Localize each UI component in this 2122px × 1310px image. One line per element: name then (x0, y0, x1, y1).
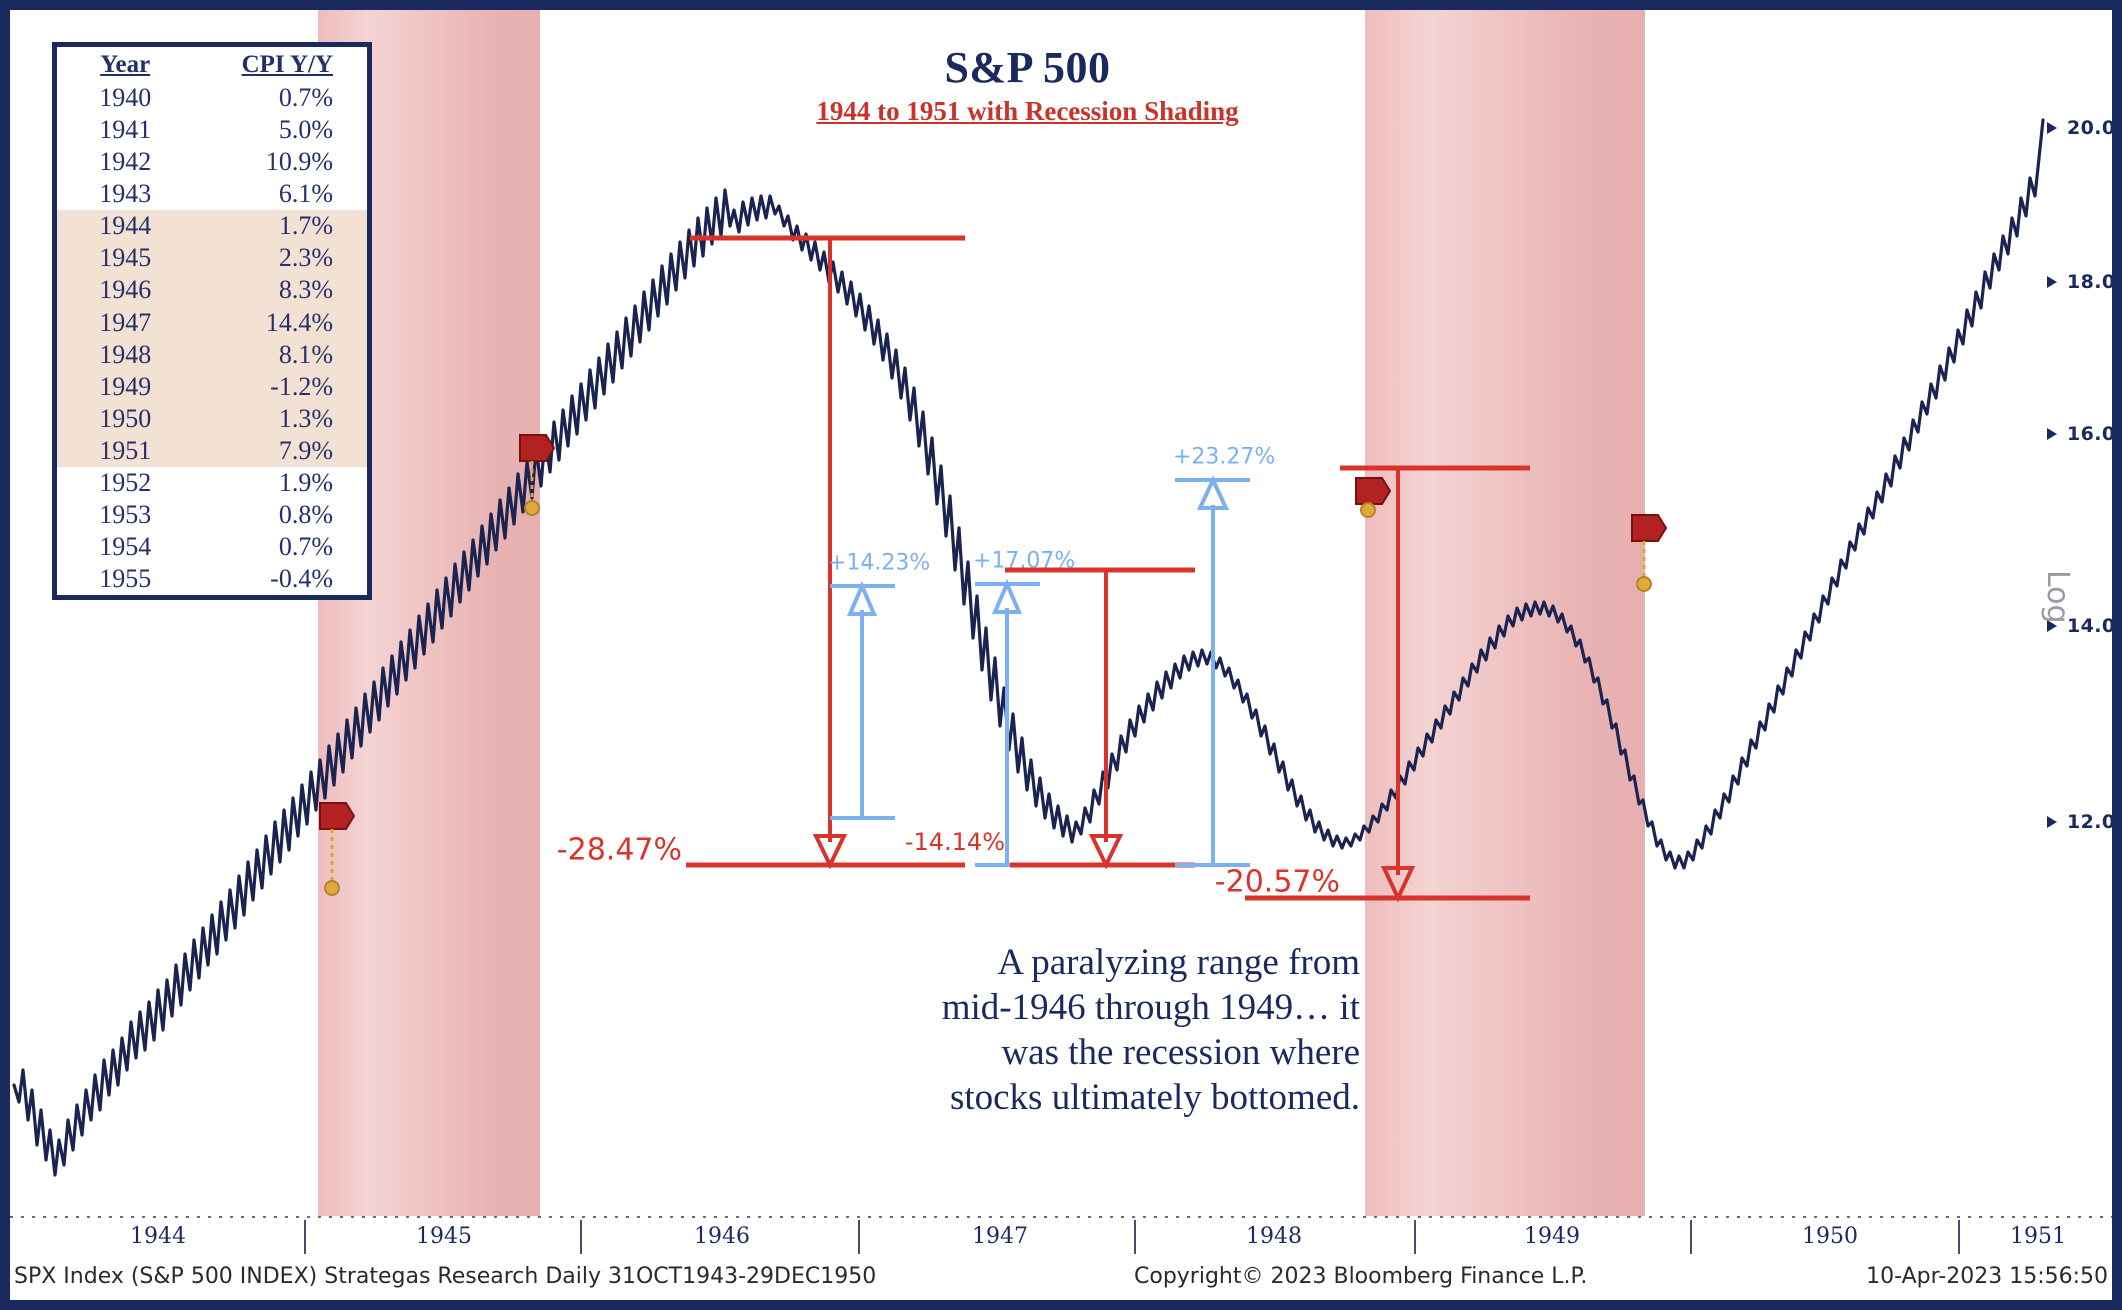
cpi-cell-year: 1943 (57, 178, 193, 210)
y-tick-mark-18 (2047, 276, 2057, 288)
cpi-table-body: 19400.7%19415.0%194210.9%19436.1%19441.7… (57, 82, 367, 595)
x-tick-sep-1 (304, 1220, 306, 1254)
x-tick-label-1945: 1945 (416, 1224, 472, 1249)
x-tick-sep-7 (1958, 1220, 1960, 1254)
cpi-cell-year: 1955 (57, 563, 193, 595)
cpi-cell-value: 1.3% (193, 403, 367, 435)
cpi-table-row: 19436.1% (57, 178, 367, 210)
cpi-cell-value: 14.4% (193, 307, 367, 339)
cpi-table-row: 19517.9% (57, 435, 367, 467)
footer-source-text: SPX Index (S&P 500 INDEX) Strategas Rese… (14, 1264, 876, 1289)
cpi-table: Year CPI Y/Y 19400.7%19415.0%194210.9%19… (52, 42, 372, 600)
cpi-cell-year: 1953 (57, 499, 193, 531)
x-tick-sep-5 (1414, 1220, 1416, 1254)
x-tick-label-1944: 1944 (130, 1224, 186, 1249)
window-frame-right (2112, 0, 2122, 1310)
cpi-cell-year: 1945 (57, 242, 193, 274)
cpi-cell-value: 8.1% (193, 339, 367, 371)
cpi-cell-year: 1941 (57, 114, 193, 146)
cpi-table-row: 19521.9% (57, 467, 367, 499)
cpi-cell-value: 0.7% (193, 531, 367, 563)
x-tick-sep-3 (858, 1220, 860, 1254)
rally-1947-label: +17.07% (973, 549, 1075, 574)
cpi-cell-value: -0.4% (193, 563, 367, 595)
cpi-cell-year: 1948 (57, 339, 193, 371)
cpi-table-row: 19452.3% (57, 242, 367, 274)
x-tick-label-1946: 1946 (694, 1224, 750, 1249)
y-tick-mark-20 (2047, 122, 2057, 134)
cpi-cell-year: 1951 (57, 435, 193, 467)
rally-1946-arrowhead (850, 586, 874, 614)
x-axis: 1944 1945 1946 1947 1948 1949 1950 1951 (10, 1216, 2112, 1260)
drawdown-1948-label: -20.57% (1215, 865, 1340, 900)
callout-text: A paralyzing range from mid-1946 through… (940, 940, 1360, 1121)
cpi-cell-year: 1949 (57, 371, 193, 403)
drawdown-1947-label: -14.14% (905, 828, 1005, 856)
y-tick-label-16: 16.00 (2067, 423, 2122, 445)
cpi-table-row: 1955-0.4% (57, 563, 367, 595)
recession-marker-3 (1356, 478, 1390, 517)
cpi-cell-year: 1952 (57, 467, 193, 499)
x-tick-label-1949: 1949 (1524, 1224, 1580, 1249)
y-tick-label-14: 14.00 (2067, 615, 2122, 637)
cpi-header-year: Year (57, 47, 193, 82)
cpi-cell-year: 1950 (57, 403, 193, 435)
x-axis-dashed-line (10, 1216, 2112, 1218)
cpi-table-row: 19501.3% (57, 403, 367, 435)
cpi-table-row: 19530.8% (57, 499, 367, 531)
x-tick-sep-6 (1690, 1220, 1692, 1254)
plot-area[interactable]: -28.47% +14.23% +17.07% -14.14% +23.27% … (10, 10, 2045, 1216)
cpi-cell-value: 1.7% (193, 210, 367, 242)
recession-marker-4 (1632, 515, 1666, 591)
rally-1947-arrowhead (995, 584, 1019, 612)
cpi-table-row: 19468.3% (57, 274, 367, 306)
cpi-cell-year: 1942 (57, 146, 193, 178)
footer-timestamp-text: 10-Apr-2023 15:56:50 (1866, 1264, 2108, 1289)
window-frame-top (0, 0, 2122, 10)
cpi-table-row: 194714.4% (57, 307, 367, 339)
y-axis-scale-label: Log (2040, 570, 2075, 624)
cpi-cell-value: 0.7% (193, 82, 367, 114)
x-tick-label-1951: 1951 (2010, 1224, 2066, 1249)
cpi-table-row: 19441.7% (57, 210, 367, 242)
cpi-table-row: 1949-1.2% (57, 371, 367, 403)
window-frame-bottom (0, 1300, 2122, 1310)
cpi-cell-value: 2.3% (193, 242, 367, 274)
cpi-table-row: 19400.7% (57, 82, 367, 114)
cpi-cell-year: 1944 (57, 210, 193, 242)
rally-1946-label: +14.23% (828, 551, 930, 576)
cpi-cell-year: 1947 (57, 307, 193, 339)
y-tick-mark-12 (2047, 816, 2057, 828)
cpi-cell-value: 1.9% (193, 467, 367, 499)
cpi-cell-value: 0.8% (193, 499, 367, 531)
y-tick-label-12: 12.00 (2067, 811, 2122, 833)
footer-bar: SPX Index (S&P 500 INDEX) Strategas Rese… (10, 1262, 2112, 1300)
y-tick-label-20: 20.00 (2067, 117, 2122, 139)
cpi-table-row: 194210.9% (57, 146, 367, 178)
x-tick-sep-4 (1134, 1220, 1136, 1254)
cpi-header-cpi: CPI Y/Y (193, 47, 367, 82)
cpi-cell-value: 7.9% (193, 435, 367, 467)
x-tick-sep-2 (580, 1220, 582, 1254)
cpi-cell-value: 6.1% (193, 178, 367, 210)
cpi-cell-value: 10.9% (193, 146, 367, 178)
cpi-table-row: 19540.7% (57, 531, 367, 563)
y-tick-label-18: 18.00 (2067, 271, 2122, 293)
x-tick-label-1948: 1948 (1246, 1224, 1302, 1249)
footer-copyright-text: Copyright© 2023 Bloomberg Finance L.P. (1134, 1264, 1587, 1289)
chart-page: -28.47% +14.23% +17.07% -14.14% +23.27% … (0, 0, 2122, 1310)
cpi-table-header-row: Year CPI Y/Y (57, 47, 367, 82)
rally-1948-label: +23.27% (1173, 445, 1275, 470)
x-tick-label-1947: 1947 (972, 1224, 1028, 1249)
recession-marker-1 (320, 803, 354, 895)
cpi-table-row: 19488.1% (57, 339, 367, 371)
cpi-cell-value: -1.2% (193, 371, 367, 403)
window-frame-left (0, 0, 10, 1310)
drawdown-1946-label: -28.47% (557, 833, 682, 868)
cpi-cell-value: 8.3% (193, 274, 367, 306)
y-axis: 20.00 18.00 16.00 14.00 12.00 Log (2045, 10, 2112, 1216)
y-tick-mark-16 (2047, 428, 2057, 440)
cpi-table-row: 19415.0% (57, 114, 367, 146)
cpi-cell-year: 1954 (57, 531, 193, 563)
cpi-cell-year: 1946 (57, 274, 193, 306)
cpi-cell-value: 5.0% (193, 114, 367, 146)
cpi-cell-year: 1940 (57, 82, 193, 114)
rally-1948-arrowhead (1200, 480, 1226, 508)
x-tick-label-1950: 1950 (1802, 1224, 1858, 1249)
